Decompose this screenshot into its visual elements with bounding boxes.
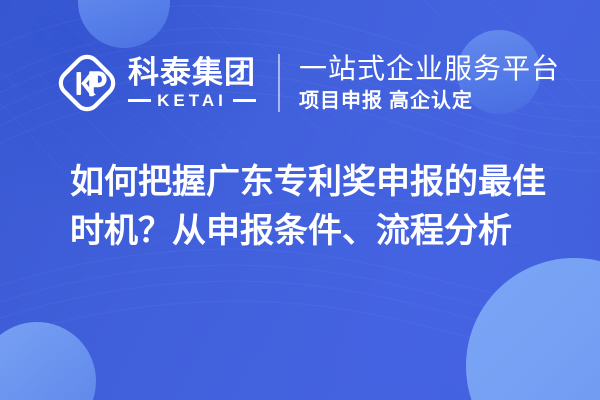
brand-name-cn: 科泰集团 — [128, 57, 256, 90]
brand-dash-left-icon — [128, 99, 151, 102]
promo-banner: 科泰集团 KETAI 一站式企业服务平台 项目申报 高企认定 如何把握广东专利奖… — [0, 0, 600, 400]
brand-logo-wordmark: 科泰集团 KETAI — [128, 57, 256, 110]
article-headline: 如何把握广东专利奖申报的最佳时机？从申报条件、流程分析 — [70, 158, 570, 256]
ketai-diamond-kp-monogram-icon — [56, 52, 118, 114]
header-divider — [278, 54, 280, 112]
banner-header: 科泰集团 KETAI 一站式企业服务平台 项目申报 高企认定 — [0, 42, 600, 124]
tagline-sub: 项目申报 高企认定 — [299, 89, 560, 114]
brand-name-en-row: KETAI — [128, 92, 256, 109]
brand-dash-right-icon — [233, 99, 256, 102]
brand-name-en: KETAI — [157, 92, 227, 109]
brand-logo[interactable]: 科泰集团 KETAI — [56, 52, 256, 114]
tagline-main: 一站式企业服务平台 — [299, 52, 560, 85]
header-tagline: 一站式企业服务平台 项目申报 高企认定 — [299, 52, 560, 113]
